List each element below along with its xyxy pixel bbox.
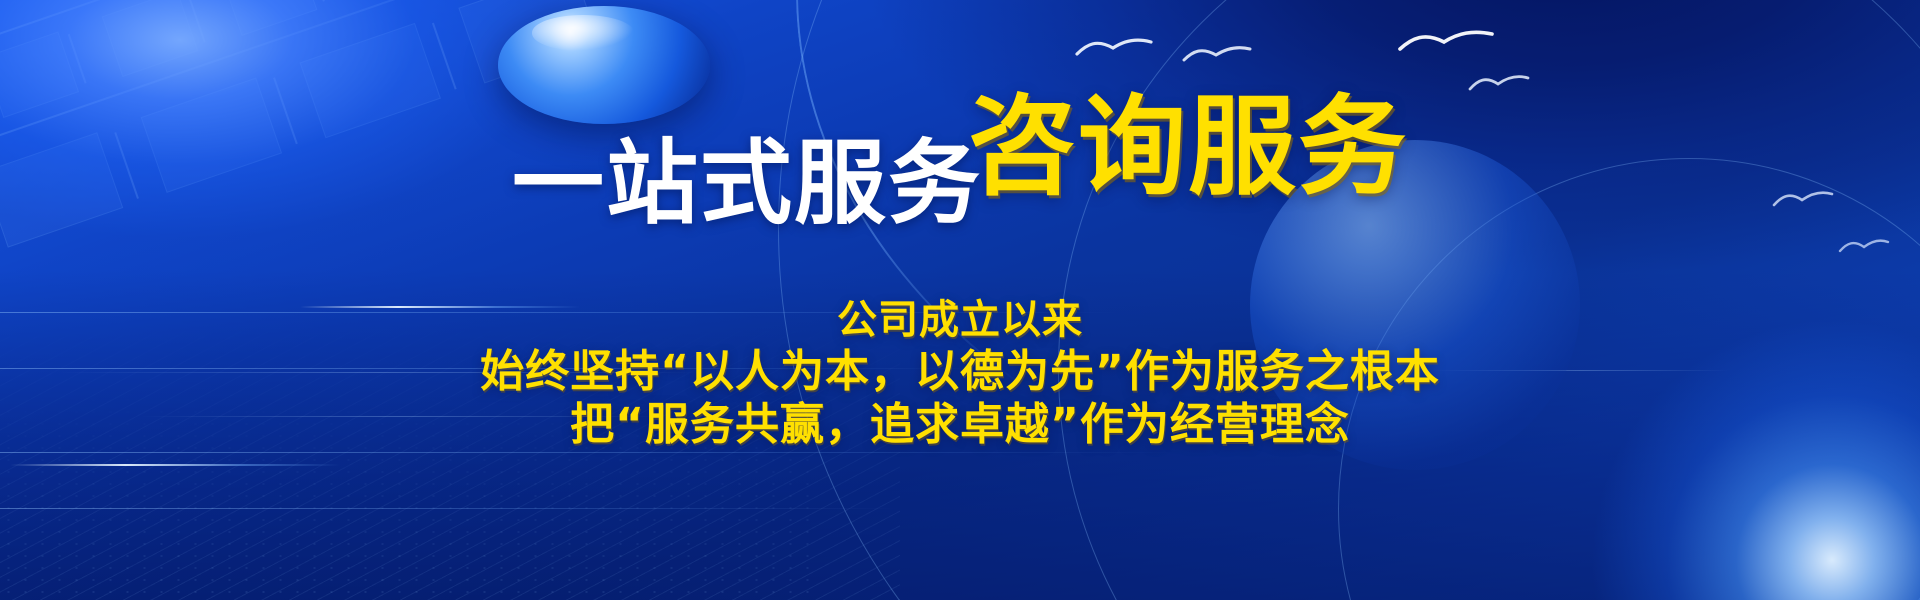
light-streak — [10, 464, 340, 466]
body-line-2: 始终坚持“以人为本，以德为先”作为服务之根本 — [0, 345, 1920, 399]
body-line-1: 公司成立以来 — [0, 296, 1920, 345]
seagull-icon — [1398, 28, 1494, 58]
promo-banner: 一站式服务 咨询服务 公司成立以来 始终坚持“以人为本，以德为先”作为服务之根本… — [0, 0, 1920, 600]
banner-title: 一站式服务 咨询服务 — [0, 58, 1920, 238]
title-accent: 咨询服务 — [968, 94, 1408, 202]
body-line-3: 把“服务共赢，追求卓越”作为经营理念 — [0, 398, 1920, 452]
seagull-icon — [1838, 238, 1890, 258]
banner-body: 公司成立以来 始终坚持“以人为本，以德为先”作为服务之根本 把“服务共赢，追求卓… — [0, 296, 1920, 452]
horizon-line — [0, 508, 900, 509]
title-primary: 一站式服务 — [512, 138, 982, 238]
